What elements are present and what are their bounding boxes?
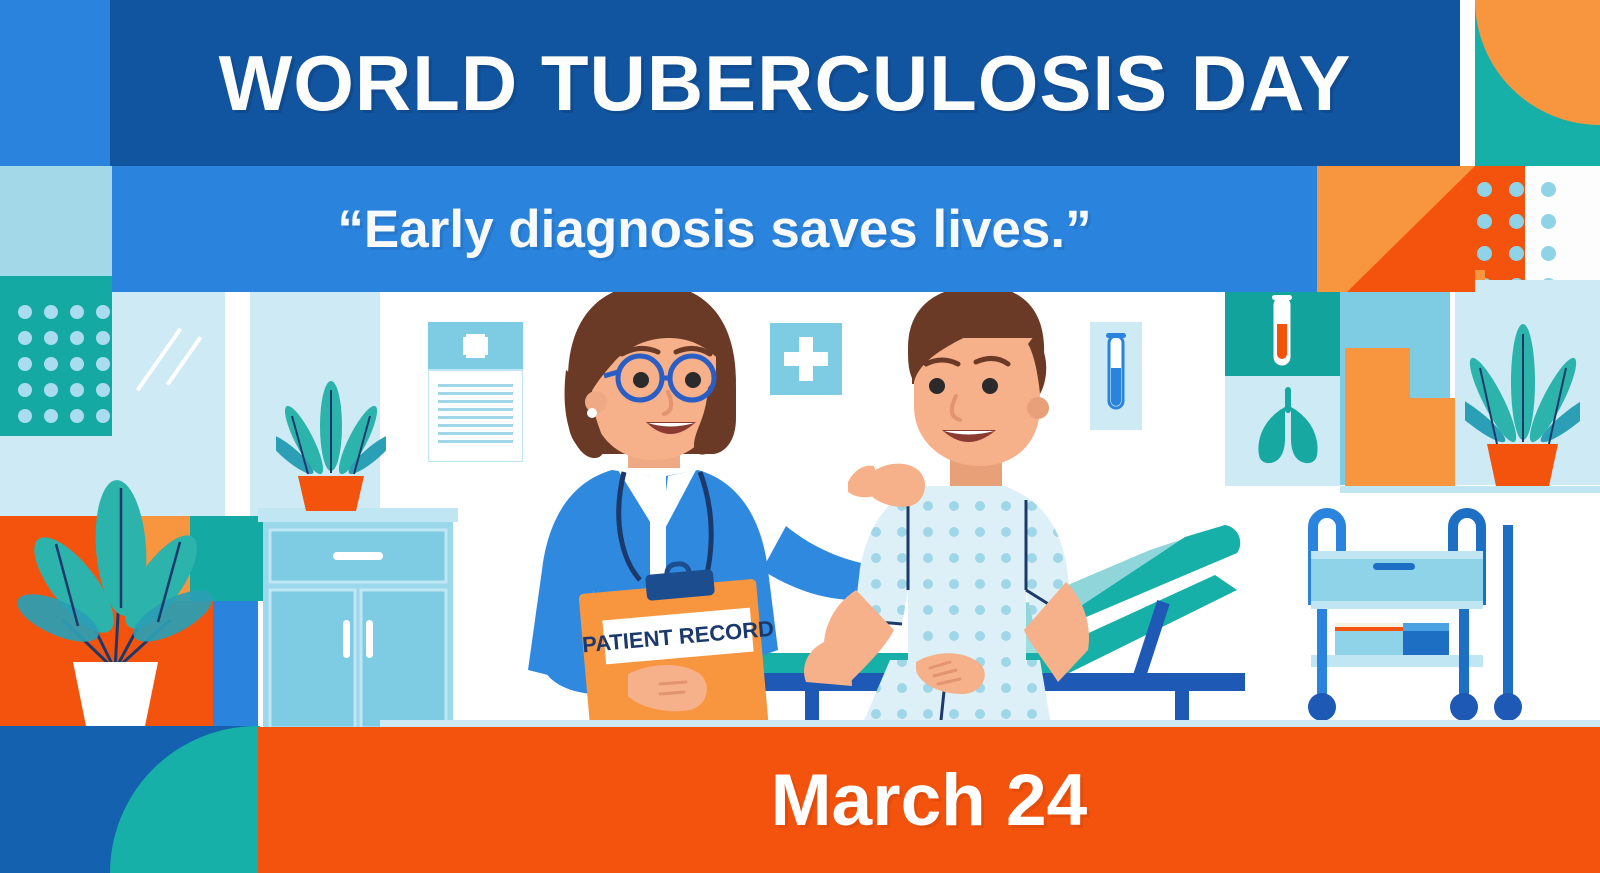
title-band-left-accent: [0, 0, 112, 166]
potted-plant-left: [18, 430, 213, 730]
dot: [96, 305, 110, 319]
dot: [44, 383, 58, 397]
test-tube-orange: [1258, 292, 1306, 370]
medical-trolley: [1295, 505, 1540, 730]
storage-cabinet: [258, 508, 458, 728]
dot: [18, 305, 32, 319]
dot: [96, 409, 110, 423]
doctor-hand-on-shoulder: [848, 448, 938, 528]
dot: [1541, 246, 1556, 261]
dot: [70, 305, 84, 319]
lungs-icon: [1243, 385, 1333, 470]
dot-grid-right: [1477, 182, 1556, 293]
dot: [1477, 214, 1492, 229]
patient-figure: [790, 290, 1120, 730]
dot: [18, 409, 32, 423]
potted-plant-cabinet: [276, 378, 386, 513]
bg-strip-white: [225, 286, 250, 516]
dot: [70, 383, 84, 397]
dot: [18, 383, 32, 397]
dot: [96, 383, 110, 397]
event-date: March 24: [258, 727, 1600, 873]
floor-line: [380, 720, 1600, 727]
dot: [44, 331, 58, 345]
dot: [96, 331, 110, 345]
dot: [1541, 214, 1556, 229]
dot: [70, 331, 84, 345]
page-subtitle: “Early diagnosis saves lives.”: [112, 166, 1317, 292]
dot: [1509, 246, 1524, 261]
dot: [96, 357, 110, 371]
dot: [18, 357, 32, 371]
dot-grid-left: [18, 305, 110, 423]
bg-block-col2-blue-lower: [213, 601, 258, 726]
dot: [44, 357, 58, 371]
dot: [1541, 182, 1556, 197]
dot: [1509, 182, 1524, 197]
orange-triangle-accent: [1317, 166, 1475, 292]
dot: [1477, 182, 1492, 197]
dot: [44, 409, 58, 423]
title-band: WORLD TUBERCULOSIS DAY: [110, 0, 1460, 166]
bg-block-right-orange-step2: [1345, 398, 1455, 486]
bg-block-left-sky: [0, 166, 112, 276]
dot: [1477, 246, 1492, 261]
dot: [70, 357, 84, 371]
dot: [1509, 214, 1524, 229]
dot: [18, 331, 32, 345]
orange-quarter-circle-topright: [1475, 0, 1600, 125]
potted-plant-right: [1465, 320, 1580, 488]
dot: [70, 409, 84, 423]
page-title: WORLD TUBERCULOSIS DAY: [110, 0, 1460, 166]
poster-canvas: PATIENT RECORD: [0, 0, 1600, 873]
dot: [44, 305, 58, 319]
